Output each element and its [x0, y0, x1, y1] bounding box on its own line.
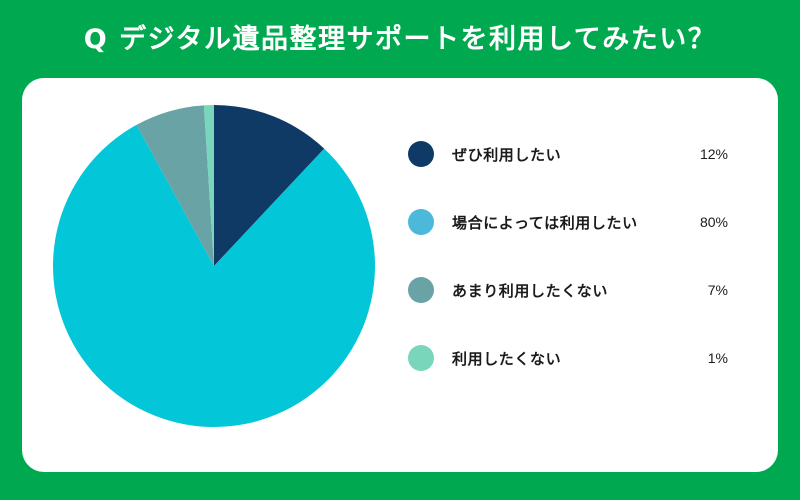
legend-label-0: ぜひ利用したい [452, 144, 561, 165]
legend-item-3[interactable]: 利用したくない 1% [408, 324, 738, 392]
survey-result-card: Q デジタル遺品整理サポートを利用してみたい？ ぜひ利用したい 12% 場合によ… [0, 0, 800, 500]
legend-label-3: 利用したくない [452, 348, 561, 369]
page-title: Q デジタル遺品整理サポートを利用してみたい？ [84, 26, 717, 53]
pie-chart-svg [53, 105, 375, 427]
legend-swatch-icon-0 [408, 141, 434, 167]
legend-value-0: 12% [700, 146, 728, 162]
legend-label-1: 場合によっては利用したい [452, 212, 638, 233]
legend-item-2[interactable]: あまり利用したくない 7% [408, 256, 738, 324]
legend-label-2: あまり利用したくない [452, 280, 608, 301]
chart-legend: ぜひ利用したい 12% 場合によっては利用したい 80% あまり利用したくない … [408, 120, 738, 392]
legend-swatch-icon-1 [408, 209, 434, 235]
content-card: ぜひ利用したい 12% 場合によっては利用したい 80% あまり利用したくない … [22, 78, 778, 472]
legend-swatch-icon-3 [408, 345, 434, 371]
legend-value-2: 7% [708, 282, 728, 298]
legend-item-1[interactable]: 場合によっては利用したい 80% [408, 188, 738, 256]
legend-item-0[interactable]: ぜひ利用したい 12% [408, 120, 738, 188]
legend-value-1: 80% [700, 214, 728, 230]
title-bar: Q デジタル遺品整理サポートを利用してみたい？ [0, 0, 800, 78]
legend-swatch-icon-2 [408, 277, 434, 303]
legend-value-3: 1% [708, 350, 728, 366]
pie-chart [53, 105, 375, 427]
